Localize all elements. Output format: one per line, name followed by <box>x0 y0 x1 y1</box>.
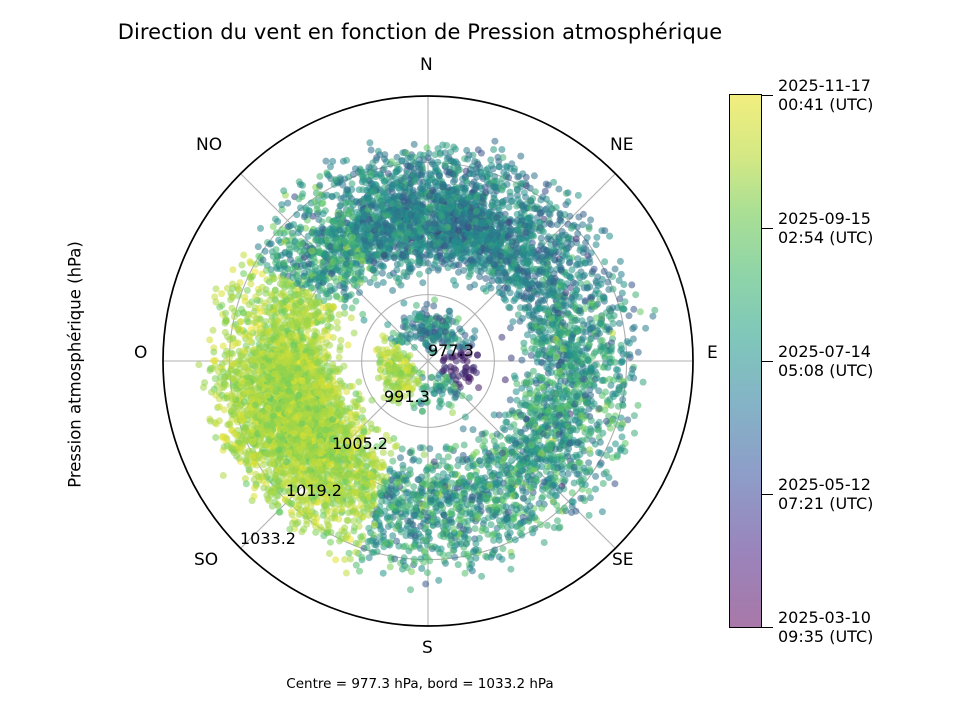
chart-title: Direction du vent en fonction de Pressio… <box>0 20 840 44</box>
colorbar-tick <box>762 361 773 362</box>
colorbar-tick <box>762 95 773 96</box>
compass-label-o: O <box>134 343 147 363</box>
colorbar-tick-time: 09:35 (UTC) <box>778 627 873 646</box>
compass-label-n: N <box>420 55 433 75</box>
colorbar-tick-time: 07:21 (UTC) <box>778 494 873 513</box>
colorbar-tick <box>762 627 773 628</box>
radial-tick-label: 1033.2 <box>240 529 296 548</box>
colorbar-tick-label: 2025-09-15 02:54 (UTC) <box>778 209 873 247</box>
radial-tick-label: 1019.2 <box>286 481 342 500</box>
colorbar-tick <box>762 494 773 495</box>
colorbar-gradient <box>729 94 762 628</box>
compass-label-ne: NE <box>610 135 633 155</box>
colorbar-tick-label: 2025-03-10 09:35 (UTC) <box>778 608 873 646</box>
radial-tick-label: 977.3 <box>428 341 474 360</box>
radial-tick-label: 991.3 <box>384 387 430 406</box>
polar-axes: N NE E SE S SO O NO 977.3 991.3 1005.2 1… <box>162 95 694 627</box>
colorbar-tick-label: 2025-05-12 07:21 (UTC) <box>778 475 873 513</box>
figure-canvas: Direction du vent en fonction de Pressio… <box>0 0 960 720</box>
compass-label-se: SE <box>612 550 634 570</box>
compass-label-so: SO <box>194 550 218 570</box>
colorbar-tick-date: 2025-03-10 <box>778 608 873 627</box>
radial-tick-label: 1005.2 <box>332 434 388 453</box>
colorbar-tick-time: 02:54 (UTC) <box>778 228 873 247</box>
colorbar-tick-date: 2025-09-15 <box>778 209 873 228</box>
compass-label-no: NO <box>196 135 222 155</box>
colorbar-tick-date: 2025-07-14 <box>778 342 873 361</box>
colorbar-tick <box>762 228 773 229</box>
compass-label-e: E <box>707 343 718 363</box>
colorbar-tick-time: 05:08 (UTC) <box>778 361 873 380</box>
colorbar-tick-label: 2025-11-17 00:41 (UTC) <box>778 76 873 114</box>
colorbar-tick-date: 2025-11-17 <box>778 76 873 95</box>
colorbar-tick-label: 2025-07-14 05:08 (UTC) <box>778 342 873 380</box>
colorbar-tick-time: 00:41 (UTC) <box>778 95 873 114</box>
compass-label-s: S <box>422 638 433 658</box>
radial-axis-label: Pression atmosphérique (hPa) <box>66 205 85 525</box>
figure-caption: Centre = 977.3 hPa, bord = 1033.2 hPa <box>0 676 840 692</box>
colorbar-tick-date: 2025-05-12 <box>778 475 873 494</box>
